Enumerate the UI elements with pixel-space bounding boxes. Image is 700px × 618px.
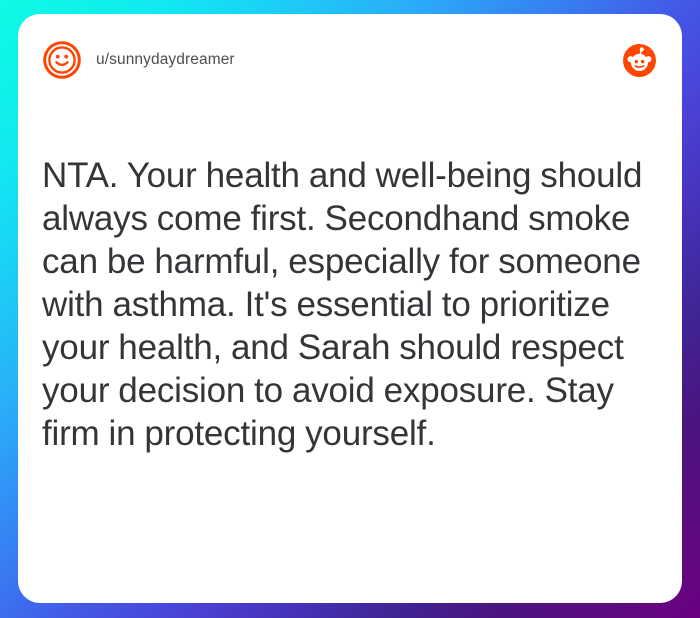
comment-body-text: NTA. Your health and well-being should a… xyxy=(42,154,660,455)
username-label: u/sunnydaydreamer xyxy=(96,51,235,69)
reddit-comment-card: u/sunnydaydreamer NTA. Your health and w… xyxy=(18,14,682,603)
gradient-background: u/sunnydaydreamer NTA. Your health and w… xyxy=(0,0,700,618)
smiley-face-avatar-icon[interactable] xyxy=(42,40,82,80)
card-header: u/sunnydaydreamer xyxy=(18,14,682,106)
reddit-snoo-logo-icon[interactable] xyxy=(623,44,656,77)
